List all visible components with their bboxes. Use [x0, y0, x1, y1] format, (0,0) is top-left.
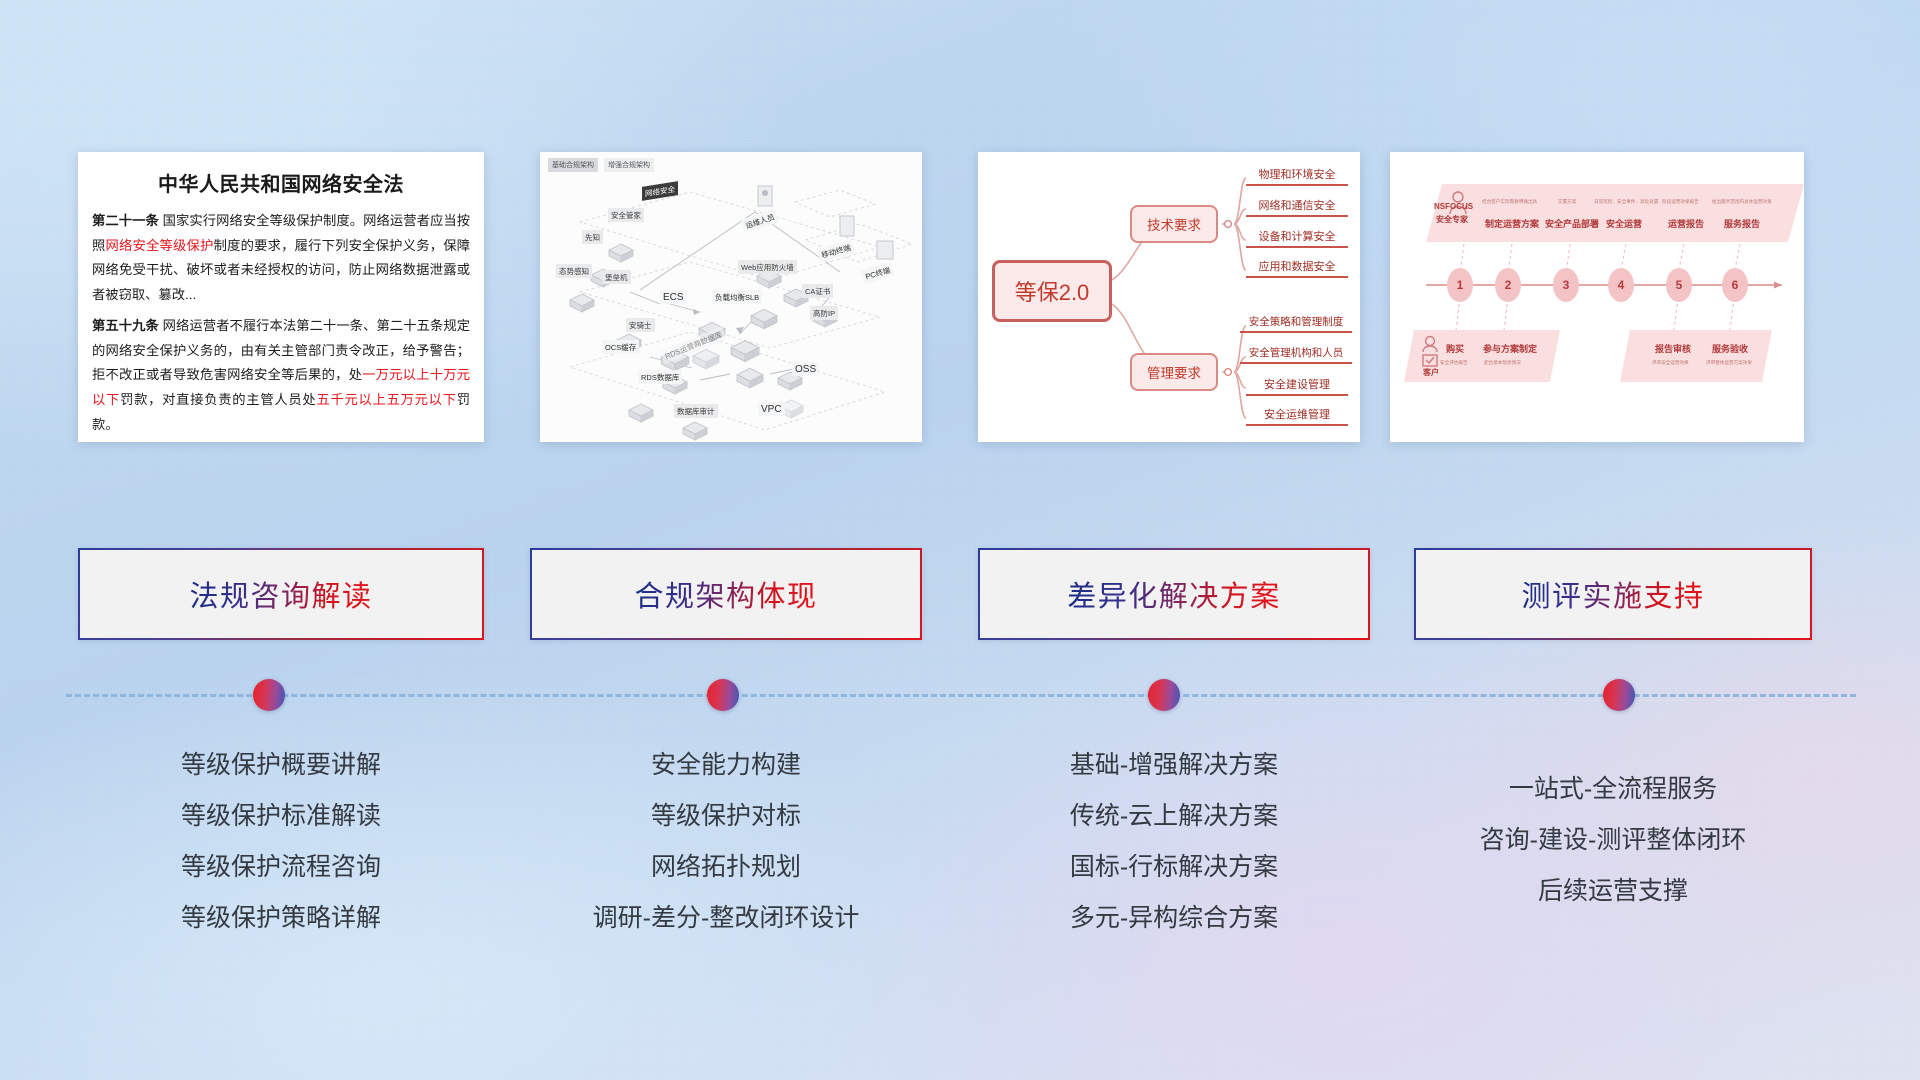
section-header-label: 合规架构体现	[634, 573, 817, 615]
cube-icon	[682, 420, 708, 442]
timeline-bottom-sub: 评审整体运营方案效果	[1706, 360, 1752, 366]
timeline-step-number: 3	[1553, 268, 1579, 302]
list-item: 传统-云上解决方案	[978, 791, 1370, 842]
timeline-diagram: NSFOCUS 安全专家 客户 1 购买 安全评估报告 2 结合客户实际需要明确…	[1390, 152, 1804, 442]
timeline-top-main: 安全产品部署	[1545, 217, 1599, 230]
timeline-top-sub: 实置方案	[1558, 199, 1576, 205]
cube-icon	[736, 366, 764, 390]
customer-role-label: 客户	[1423, 367, 1439, 378]
list-item: 国标-行标解决方案	[978, 842, 1370, 893]
list-item: 一站式-全流程服务	[1414, 764, 1812, 815]
arch-node-vpc: VPC	[758, 402, 785, 416]
law-body: 第二十一条 国家实行网络安全等级保护制度。网络运营者应当按照网络安全等级保护制度…	[78, 209, 484, 437]
section-header-differentiated-solutions[interactable]: 差异化解决方案	[978, 548, 1370, 640]
monitor-icon	[874, 238, 896, 266]
timeline-bottom-sub: 评审安全运营效果	[1652, 360, 1689, 366]
list-item: 等级保护概要讲解	[78, 740, 484, 791]
timeline-bottom-sub: 配合基本现状情况	[1484, 360, 1521, 366]
server-icon	[754, 184, 776, 212]
expert-role-line1: NSFOCUS	[1434, 202, 1473, 211]
mindmap-leaf: 网络和通信安全	[1246, 197, 1348, 217]
arch-node-ecs: ECS	[660, 290, 687, 304]
cube-icon	[569, 292, 595, 314]
timeline-top-sub: 给出服务范围内总体运营效果	[1712, 199, 1772, 205]
section-header-regulatory-consulting[interactable]: 法规咨询解读	[78, 548, 484, 640]
timeline-node-dot-1[interactable]	[253, 679, 285, 711]
list-item: 等级保护对标	[530, 791, 922, 842]
arch-node-ca-cert: CA证书	[802, 284, 833, 298]
arch-node-rds-database: RDS数据库	[638, 370, 682, 384]
section-headers-row: 法规咨询解读 合规架构体现 差异化解决方案 测评实施支持	[0, 548, 1920, 644]
section-items-regulatory-consulting: 等级保护概要讲解 等级保护标准解读 等级保护流程咨询 等级保护策略详解	[78, 740, 484, 944]
arch-node-xianzhi: 先知	[582, 230, 603, 244]
cube-icon	[628, 402, 654, 424]
mindmap-leaf: 设备和计算安全	[1246, 228, 1348, 248]
timeline-step-number: 1	[1447, 268, 1473, 302]
section-items-differentiated-solutions: 基础-增强解决方案 传统-云上解决方案 国标-行标解决方案 多元-异构综合方案	[978, 740, 1370, 944]
timeline-node-dot-3[interactable]	[1148, 679, 1180, 711]
list-item: 后续运营支撑	[1414, 866, 1812, 917]
list-item: 基础-增强解决方案	[978, 740, 1370, 791]
timeline-top-main: 服务报告	[1724, 217, 1760, 230]
timeline-step-number: 5	[1666, 268, 1692, 302]
list-item: 调研-差分-整改闭环设计	[530, 893, 922, 944]
section-items-compliance-architecture: 安全能力构建 等级保护对标 网络拓扑规划 调研-差分-整改闭环设计	[530, 740, 922, 944]
list-item: 等级保护流程咨询	[78, 842, 484, 893]
arch-node-db-audit: 数据库审计	[674, 404, 718, 418]
timeline-top-sub: 结合客户实际需要明确出具	[1482, 199, 1537, 205]
timeline-top-main: 安全运营	[1606, 217, 1642, 230]
section-items-assessment-support: 一站式-全流程服务 咨询-建设-测评整体闭环 后续运营支撑	[1414, 764, 1812, 917]
list-item: 网络拓扑规划	[530, 842, 922, 893]
mindmap-diagram: 等保2.0 技术要求 物理和环境安全 网络和通信安全 设备和计算安全 应用和数据…	[978, 152, 1360, 442]
mindmap-leaf: 安全管理机构和人员	[1240, 345, 1352, 364]
cube-icon	[608, 242, 634, 264]
arch-node-waf: Web应用防火墙	[738, 260, 797, 274]
timeline-bottom-main: 参与方案制定	[1483, 342, 1537, 355]
list-item: 安全能力构建	[530, 740, 922, 791]
timeline-bottom-main: 服务验收	[1712, 342, 1748, 355]
timeline-bottom-main: 报告审核	[1655, 342, 1691, 355]
timeline-top-sub: 日常巡检、安全事件、高危处置	[1594, 199, 1658, 205]
arch-node-slb: 负载均衡SLB	[712, 290, 762, 304]
server-icon	[836, 214, 858, 242]
card-cloud-architecture: 基础合规架构 增强合规架构	[540, 152, 922, 442]
law-title: 中华人民共和国网络安全法	[78, 168, 484, 197]
list-item: 咨询-建设-测评整体闭环	[1414, 815, 1812, 866]
timeline-top-main: 制定运营方案	[1485, 217, 1539, 230]
mindmap-branch-technical: 技术要求	[1130, 205, 1218, 243]
list-item: 多元-异构综合方案	[978, 893, 1370, 944]
article-21-label: 第二十一条	[92, 213, 159, 228]
mindmap-leaf: 安全建设管理	[1246, 376, 1348, 396]
article-21-highlight: 网络安全等级保护	[106, 238, 214, 253]
arch-node-ocs-cache: OCS缓存	[602, 340, 639, 354]
timeline-bottom-sub: 安全评估报告	[1440, 360, 1468, 366]
timeline-dashed-axis	[66, 694, 1856, 697]
list-item: 等级保护标准解读	[78, 791, 484, 842]
timeline-node-dot-2[interactable]	[707, 679, 739, 711]
timeline-step-number: 6	[1722, 268, 1748, 302]
law-article-21: 第二十一条 国家实行网络安全等级保护制度。网络运营者应当按照网络安全等级保护制度…	[92, 209, 470, 308]
article-59-text-2: 罚款，对直接负责的主管人员处	[120, 392, 316, 407]
mindmap-leaf: 安全运维管理	[1246, 406, 1348, 426]
timeline-top-sub: 阶段运营效果报告	[1662, 199, 1699, 205]
mindmap-leaf: 安全策略和管理制度	[1240, 314, 1352, 333]
mindmap-root: 等保2.0	[992, 260, 1112, 322]
arch-node-situational-awareness: 态势感知	[556, 264, 592, 278]
architecture-diagram: 基础合规架构 增强合规架构	[540, 152, 922, 442]
arch-node-anti-ddos-ip: 高防IP	[810, 306, 838, 320]
timeline-bottom-main: 购买	[1446, 342, 1464, 355]
arch-node-bastion-host: 堡垒机	[602, 270, 631, 284]
arch-node-anqishi: 安骑士	[626, 318, 655, 332]
article-59-label: 第五十九条	[92, 318, 159, 333]
expert-role-line2: 安全专家	[1436, 214, 1468, 225]
mindmap-leaf: 应用和数据安全	[1246, 258, 1348, 278]
section-header-label: 差异化解决方案	[1067, 573, 1281, 615]
section-header-label: 测评实施支持	[1521, 573, 1704, 615]
law-article-59: 第五十九条 网络运营者不履行本法第二十一条、第二十五条规定的网络安全保护义务的，…	[92, 314, 470, 438]
timeline-node-dot-4[interactable]	[1603, 679, 1635, 711]
article-59-fine-2: 五千元以上五万元以下	[316, 392, 456, 407]
section-header-assessment-support[interactable]: 测评实施支持	[1414, 548, 1812, 640]
timeline-step-number: 4	[1608, 268, 1634, 302]
card-service-timeline: NSFOCUS 安全专家 客户 1 购买 安全评估报告 2 结合客户实际需要明确…	[1390, 152, 1804, 442]
card-cybersecurity-law: 中华人民共和国网络安全法 第二十一条 国家实行网络安全等级保护制度。网络运营者应…	[78, 152, 484, 442]
cube-icon	[750, 307, 778, 331]
section-header-compliance-architecture[interactable]: 合规架构体现	[530, 548, 922, 640]
arch-node-oss: OSS	[792, 362, 819, 376]
illustration-cards-row: 中华人民共和国网络安全法 第二十一条 国家实行网络安全等级保护制度。网络运营者应…	[0, 152, 1920, 448]
card-mindmap-dengbao: 等保2.0 技术要求 物理和环境安全 网络和通信安全 设备和计算安全 应用和数据…	[978, 152, 1360, 442]
cube-icon	[730, 338, 760, 364]
list-item: 等级保护策略详解	[78, 893, 484, 944]
timeline-step-number: 2	[1495, 268, 1521, 302]
arch-node-security-butler: 安全管家	[608, 208, 644, 222]
mindmap-leaf: 物理和环境安全	[1246, 166, 1348, 186]
mindmap-branch-management: 管理要求	[1130, 353, 1218, 391]
section-header-label: 法规咨询解读	[189, 573, 372, 615]
timeline-top-main: 运营报告	[1668, 217, 1704, 230]
